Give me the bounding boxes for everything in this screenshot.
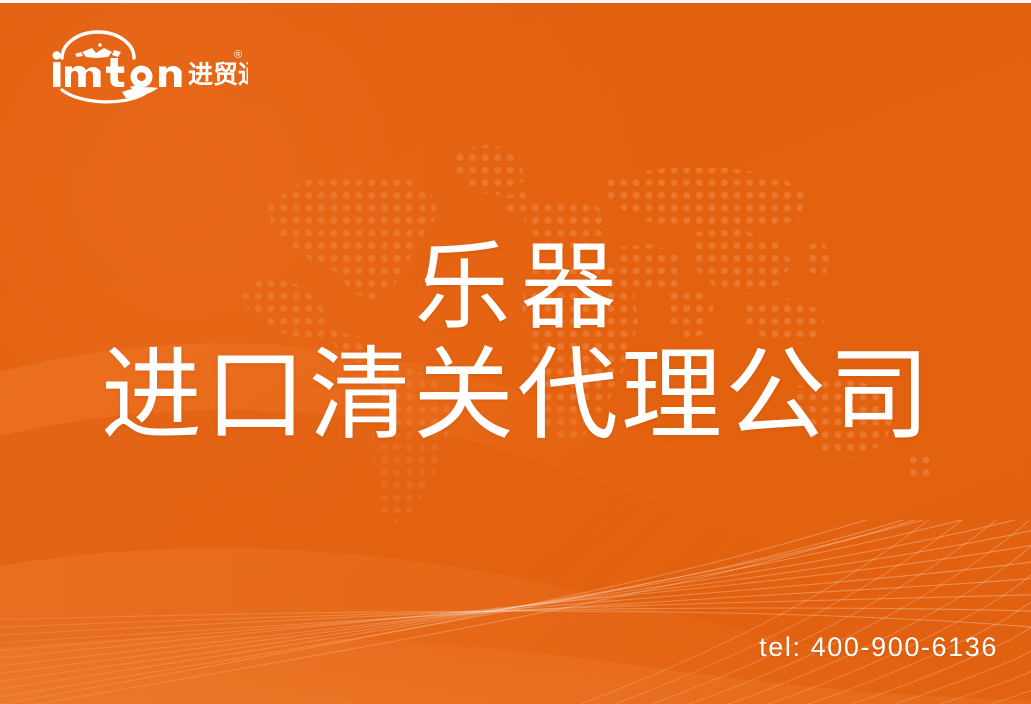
brand-logo[interactable]: 进贸通 ® — [38, 28, 248, 104]
registered-mark: ® — [234, 49, 242, 61]
poster-canvas: 进贸通 ® 乐器 进口清关代理公司 tel: 400-900-6136 — [0, 0, 1031, 704]
globe-arc-icon — [62, 32, 134, 58]
logo-wordmark — [53, 51, 182, 87]
headline-line-2: 进口清关代理公司 — [0, 340, 1031, 452]
logo-chinese-name: 进贸通 — [188, 60, 248, 89]
headline-block: 乐器 进口清关代理公司 — [0, 236, 1031, 452]
telephone-label: tel: 400-900-6136 — [759, 632, 998, 662]
headline-line-1: 乐器 — [0, 236, 1031, 340]
top-divider — [0, 0, 1031, 3]
